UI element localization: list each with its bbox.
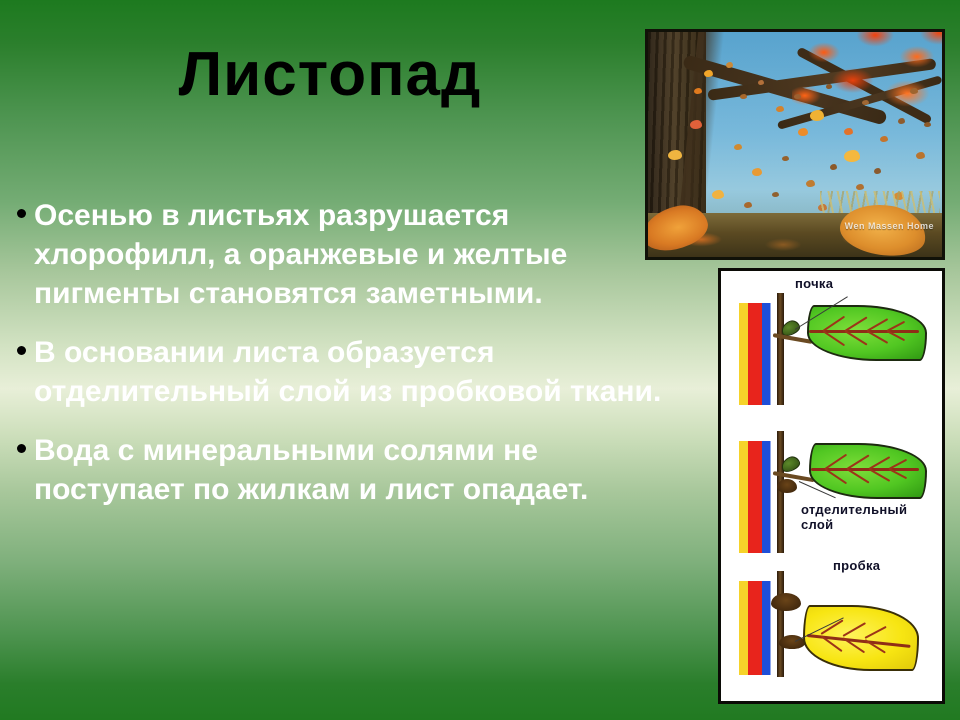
falling-leaf [856, 184, 864, 190]
list-item-text: Вода с минеральными солями не поступает … [34, 431, 668, 509]
diagram-panel-3: пробка [721, 571, 942, 701]
falling-leaf [668, 150, 682, 160]
bullet-dot-icon [8, 333, 34, 355]
autumn-photo-image: Wen Massen Home [648, 32, 942, 257]
label-cork: пробка [833, 559, 880, 574]
photo-watermark: Wen Massen Home [845, 221, 934, 231]
falling-leaf [782, 156, 789, 161]
slide-canvas: Листопад Осенью в листьях разрушается хл… [0, 0, 960, 720]
abscission-diagram: почка отделительный сло [718, 268, 945, 704]
falling-leaf [798, 128, 808, 136]
falling-leaf [830, 164, 837, 170]
falling-leaf [744, 202, 752, 208]
falling-leaf [752, 168, 762, 176]
falling-leaf [694, 88, 702, 94]
falling-leaf [758, 80, 764, 85]
label-bud: почка [795, 277, 833, 292]
bullet-list: Осенью в листьях разрушается хлорофилл, … [8, 196, 668, 529]
falling-leaf [794, 94, 801, 99]
falling-leaf [690, 120, 702, 129]
list-item-text: В основании листа образуется отделительн… [34, 333, 668, 411]
twig [777, 293, 784, 405]
list-item: Осенью в листьях разрушается хлорофилл, … [8, 196, 668, 313]
bullet-dot-icon [8, 431, 34, 453]
falling-leaf [916, 152, 925, 159]
falling-leaf [898, 118, 905, 124]
falling-leaf [776, 106, 784, 112]
abscission-diagram-inner: почка отделительный сло [721, 271, 942, 701]
falling-leaf [740, 94, 747, 99]
falling-leaf [862, 100, 869, 105]
page-title: Листопад [0, 42, 660, 107]
falling-leaf [772, 192, 779, 197]
bullet-dot-icon [8, 196, 34, 218]
diagram-panel-1: почка [721, 271, 942, 421]
falling-leaf [704, 70, 713, 77]
list-item: Вода с минеральными солями не поступает … [8, 431, 668, 509]
cork-scar [771, 593, 801, 611]
falling-leaf [844, 128, 853, 135]
autumn-photo: Wen Massen Home [645, 29, 945, 260]
stem-cross-section [739, 581, 773, 675]
falling-leaf [874, 168, 881, 174]
falling-leaf [806, 180, 815, 187]
falling-leaf [712, 190, 724, 199]
stem-cross-section [739, 441, 773, 553]
falling-leaf [880, 136, 888, 142]
twig [777, 571, 784, 677]
list-item-text: Осенью в листьях разрушается хлорофилл, … [34, 196, 668, 313]
falling-leaf [734, 144, 742, 150]
diagram-panel-2: отделительный слой [721, 423, 942, 573]
list-item: В основании листа образуется отделительн… [8, 333, 668, 411]
falling-leaf [910, 88, 918, 94]
falling-leaf [726, 62, 733, 68]
falling-leaf [844, 150, 860, 162]
stem-cross-section [739, 303, 773, 405]
falling-leaf [924, 122, 931, 127]
label-abscission-layer: отделительный слой [801, 503, 907, 532]
falling-leaf [810, 110, 824, 121]
falling-leaf [826, 84, 832, 89]
cork-layer [777, 479, 797, 493]
